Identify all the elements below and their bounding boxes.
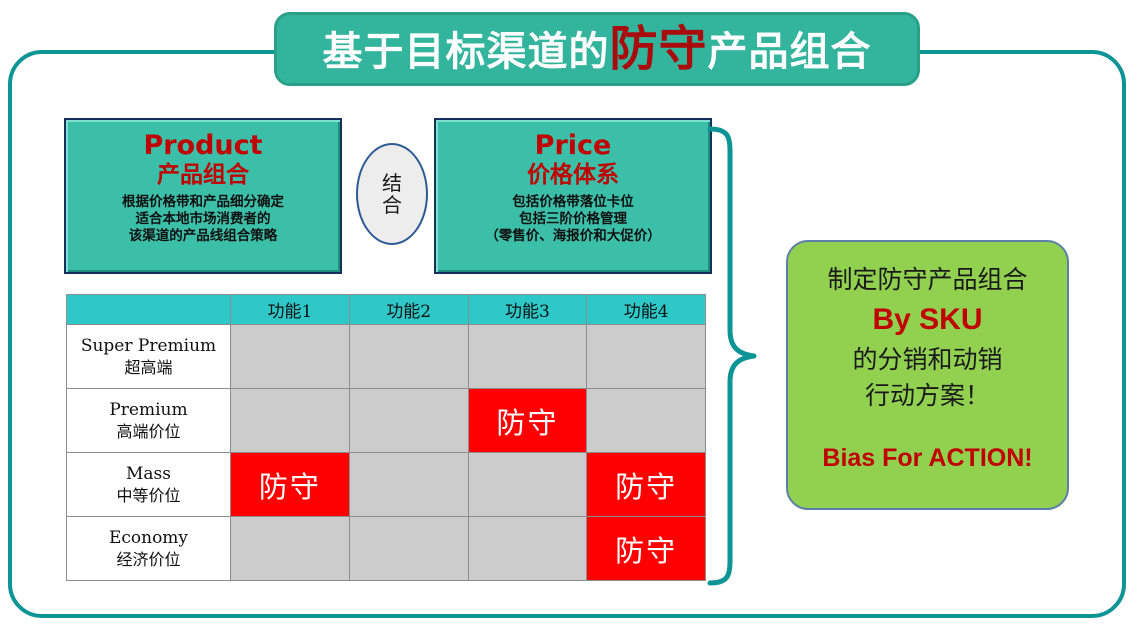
matrix-row-header-1: Super Premium 超高端 xyxy=(67,325,231,389)
curly-brace-icon xyxy=(706,125,768,587)
row-label-en: Premium xyxy=(67,399,230,421)
matrix-cell-r4c2[interactable] xyxy=(349,517,468,581)
page-title: 基于目标渠道的防守产品组合 xyxy=(322,25,871,73)
row-label-en: Economy xyxy=(67,527,230,549)
matrix-row-header-2: Premium 高端价位 xyxy=(67,389,231,453)
matrix-cell-r2c3[interactable]: 防守 xyxy=(468,389,587,453)
product-desc-line-3: 该渠道的产品线组合策略 xyxy=(66,228,340,245)
matrix-cell-r2c4[interactable] xyxy=(587,389,706,453)
product-desc-line-2: 适合本地市场消费者的 xyxy=(66,211,340,228)
matrix-cell-r1c2[interactable] xyxy=(349,325,468,389)
action-line-2: 的分销和动销 xyxy=(788,342,1067,378)
slide-canvas: 基于目标渠道的防守产品组合 Product 产品组合 根据价格带和产品细分确定 … xyxy=(0,0,1140,636)
row-label-cn: 高端价位 xyxy=(67,421,230,442)
price-desc-line-1: 包括价格带落位卡位 xyxy=(436,194,710,211)
table-row: Economy 经济价位 防守 xyxy=(67,517,706,581)
row-label-cn: 中等价位 xyxy=(67,485,230,506)
action-callout-box[interactable]: 制定防守产品组合 By SKU 的分销和动销 行动方案！ Bias For AC… xyxy=(786,240,1069,510)
product-description: 根据价格带和产品细分确定 适合本地市场消费者的 该渠道的产品线组合策略 xyxy=(66,194,340,246)
title-prefix: 基于目标渠道的 xyxy=(322,29,609,75)
product-title-cn: 产品组合 xyxy=(66,162,340,190)
matrix-cell-r1c1[interactable] xyxy=(231,325,350,389)
price-description: 包括价格带落位卡位 包括三阶价格管理 （零售价、海报价和大促价） xyxy=(436,194,710,246)
title-highlight: 防守 xyxy=(609,21,707,77)
matrix-col-header-4: 功能4 xyxy=(587,295,706,325)
slide-title-banner: 基于目标渠道的防守产品组合 xyxy=(274,12,920,86)
product-title-en: Product xyxy=(66,130,340,161)
price-desc-line-2: 包括三阶价格管理 xyxy=(436,211,710,228)
matrix-row-header-4: Economy 经济价位 xyxy=(67,517,231,581)
price-title-en: Price xyxy=(436,130,710,161)
matrix-cell-r2c2[interactable] xyxy=(349,389,468,453)
matrix-cell-r4c4[interactable]: 防守 xyxy=(587,517,706,581)
row-label-cn: 经济价位 xyxy=(67,549,230,570)
matrix-cell-r4c3[interactable] xyxy=(468,517,587,581)
product-price-matrix: 功能1 功能2 功能3 功能4 Super Premium 超高端 xyxy=(66,294,706,581)
matrix-cell-r1c4[interactable] xyxy=(587,325,706,389)
matrix-cell-r3c2[interactable] xyxy=(349,453,468,517)
matrix-col-header-3: 功能3 xyxy=(468,295,587,325)
table-row: Mass 中等价位 防守 防守 xyxy=(67,453,706,517)
table-row: Super Premium 超高端 xyxy=(67,325,706,389)
action-line-3: 行动方案！ xyxy=(788,378,1067,414)
matrix-cell-r2c1[interactable] xyxy=(231,389,350,453)
product-box[interactable]: Product 产品组合 根据价格带和产品细分确定 适合本地市场消费者的 该渠道… xyxy=(64,118,342,274)
price-desc-line-3: （零售价、海报价和大促价） xyxy=(436,228,710,245)
price-box[interactable]: Price 价格体系 包括价格带落位卡位 包括三阶价格管理 （零售价、海报价和大… xyxy=(434,118,712,274)
action-sku-label: By SKU xyxy=(788,298,1067,342)
combine-char-top: 结 xyxy=(382,172,402,194)
product-desc-line-1: 根据价格带和产品细分确定 xyxy=(66,194,340,211)
price-title-cn: 价格体系 xyxy=(436,162,710,190)
matrix-cell-r4c1[interactable] xyxy=(231,517,350,581)
combine-char-bottom: 合 xyxy=(382,194,402,216)
matrix-header-row: 功能1 功能2 功能3 功能4 xyxy=(67,295,706,325)
row-label-cn: 超高端 xyxy=(67,357,230,378)
matrix-corner-cell xyxy=(67,295,231,325)
action-line-1: 制定防守产品组合 xyxy=(788,262,1067,298)
matrix-cell-r1c3[interactable] xyxy=(468,325,587,389)
matrix-col-header-2: 功能2 xyxy=(349,295,468,325)
row-label-en: Super Premium xyxy=(67,335,230,357)
title-suffix: 产品组合 xyxy=(708,29,872,75)
row-label-en: Mass xyxy=(67,463,230,485)
matrix-cell-r3c3[interactable] xyxy=(468,453,587,517)
table-row: Premium 高端价位 防守 xyxy=(67,389,706,453)
matrix-cell-r3c1[interactable]: 防守 xyxy=(231,453,350,517)
action-slogan: Bias For ACTION! xyxy=(788,444,1067,473)
matrix-cell-r3c4[interactable]: 防守 xyxy=(587,453,706,517)
matrix-col-header-1: 功能1 xyxy=(231,295,350,325)
matrix-body: Super Premium 超高端 Premium 高端价位 防守 xyxy=(67,325,706,581)
matrix-row-header-3: Mass 中等价位 xyxy=(67,453,231,517)
combine-connector-ellipse: 结 合 xyxy=(356,143,428,245)
matrix-header: 功能1 功能2 功能3 功能4 xyxy=(67,295,706,325)
